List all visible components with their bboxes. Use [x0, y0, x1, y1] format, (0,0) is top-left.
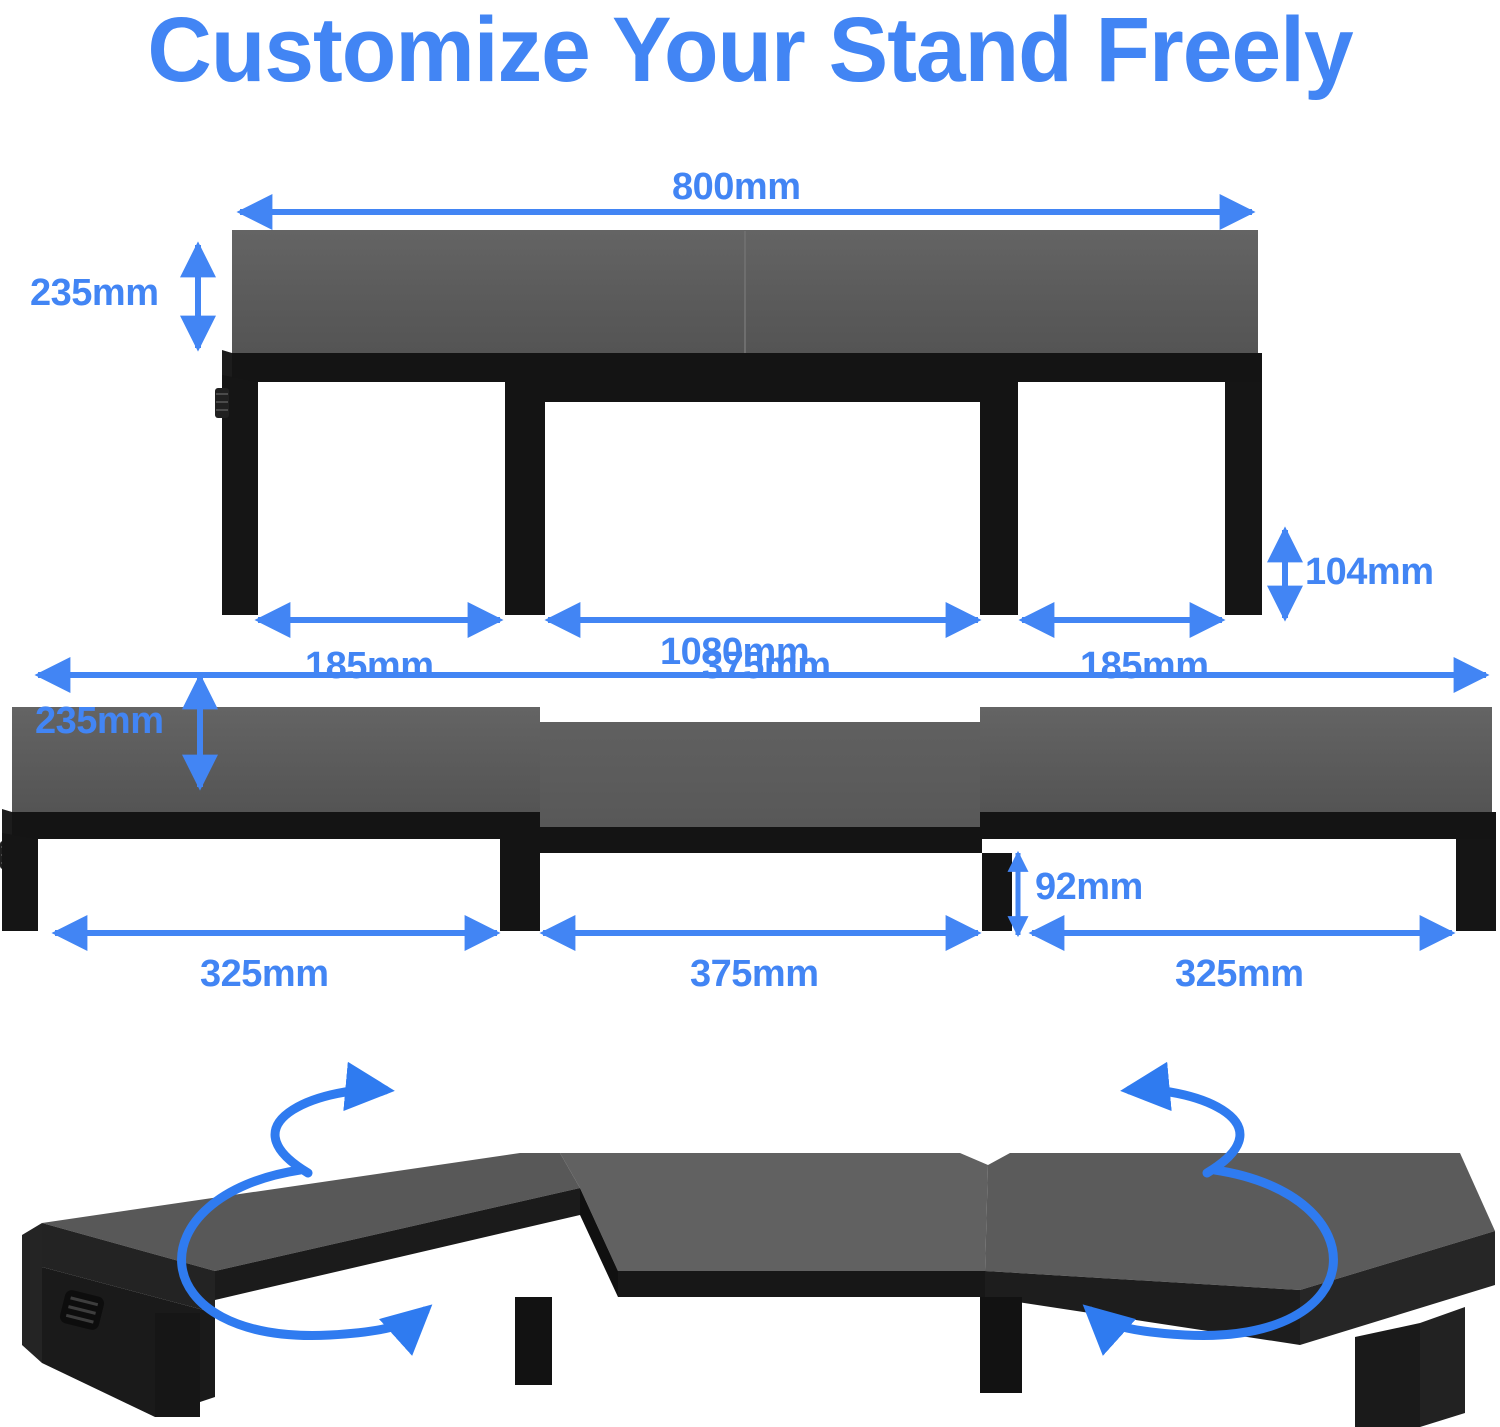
leg-right: [1355, 1323, 1420, 1427]
leg-right-outer: [1456, 839, 1496, 931]
right-panel-surface: [980, 707, 1492, 812]
compact-stand-illustration: [0, 150, 1500, 570]
leg-inner-left: [500, 839, 540, 931]
leg-right-side: [1420, 1307, 1465, 1427]
diagram-rotation-configuration: [0, 1045, 1500, 1427]
leg-inner-left: [515, 1297, 552, 1385]
dim-label-total-width: 800mm: [672, 168, 800, 206]
diagram-extended-configuration: 1080mm 235mm 92mm 325mm 375mm 325mm: [0, 615, 1500, 1035]
center-panel-top-face: [560, 1153, 988, 1271]
left-outer-face: [22, 1223, 42, 1363]
dim-label-right-opening: 325mm: [1175, 955, 1303, 993]
dim-label-left-opening: 325mm: [200, 955, 328, 993]
dim-label-center-leg-height: 92mm: [1035, 868, 1143, 906]
leg-left-outer: [2, 833, 38, 931]
stand-body-extended: [0, 707, 1496, 931]
rotating-stand-illustration: [0, 1045, 1500, 1427]
leg-inner-right: [980, 1297, 1022, 1393]
center-panel-edge: [618, 1271, 985, 1297]
front-apron: [228, 353, 1262, 382]
center-bay-apron: [545, 382, 980, 402]
dim-label-center-opening: 375mm: [690, 955, 818, 993]
side-hinge-connector-icon: [215, 388, 229, 418]
page-title: Customize Your Stand Freely: [23, 0, 1478, 104]
stand-body-compact: [215, 230, 1262, 615]
stand-body-perspective: [22, 1153, 1495, 1427]
leg-left: [155, 1313, 200, 1417]
dim-label-leg-height: 104mm: [1305, 553, 1433, 591]
left-apron: [8, 812, 540, 839]
center-apron: [540, 827, 982, 853]
diagram-compact-configuration: 800mm 235mm 104mm 185mm 375mm 185mm: [0, 150, 1500, 570]
dim-label-total-width: 1080mm: [660, 633, 809, 671]
leg-right-outer: [1225, 382, 1262, 615]
leg-inner-right: [980, 382, 1018, 615]
right-apron: [980, 812, 1496, 839]
dim-label-depth: 235mm: [35, 702, 163, 740]
dim-label-depth: 235mm: [30, 274, 158, 312]
leg-inner-right: [982, 853, 1012, 931]
left-panel-rotation-arrow-upper: [275, 1090, 385, 1173]
leg-inner-left: [505, 382, 545, 615]
center-panel-surface: [540, 722, 980, 827]
